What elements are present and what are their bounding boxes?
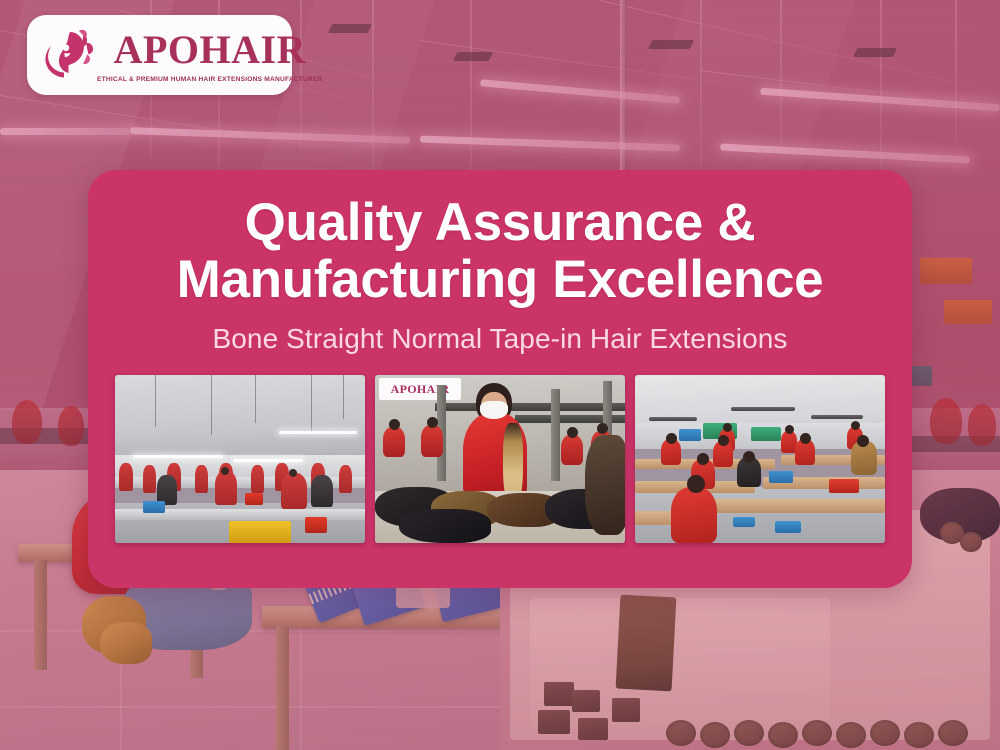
woman-profile-flower-icon: [39, 26, 97, 84]
page-subtitle: Bone Straight Normal Tape-in Hair Extens…: [212, 323, 787, 355]
brand-wordmark: APOHAIR: [114, 30, 306, 70]
hero-card: Quality Assurance & Manufacturing Excell…: [88, 170, 912, 588]
photo-gallery-strip: APOHAIR: [112, 375, 888, 543]
page-title-line-1: Quality Assurance &: [177, 195, 824, 252]
page-title-line-2: Manufacturing Excellence: [177, 252, 824, 309]
gallery-photo-hair-inspection[interactable]: APOHAIR: [375, 375, 625, 543]
page-title: Quality Assurance & Manufacturing Excell…: [177, 195, 824, 308]
brand-logo-badge[interactable]: APOHAIR ETHICAL & PREMIUM HUMAN HAIR EXT…: [27, 15, 292, 95]
brand-tagline: ETHICAL & PREMIUM HUMAN HAIR EXTENSIONS …: [97, 76, 323, 83]
gallery-photo-factory-floor[interactable]: [115, 375, 365, 543]
gallery-photo-assembly-tables[interactable]: [635, 375, 885, 543]
thumb-apohair-banner: APOHAIR: [379, 378, 461, 400]
